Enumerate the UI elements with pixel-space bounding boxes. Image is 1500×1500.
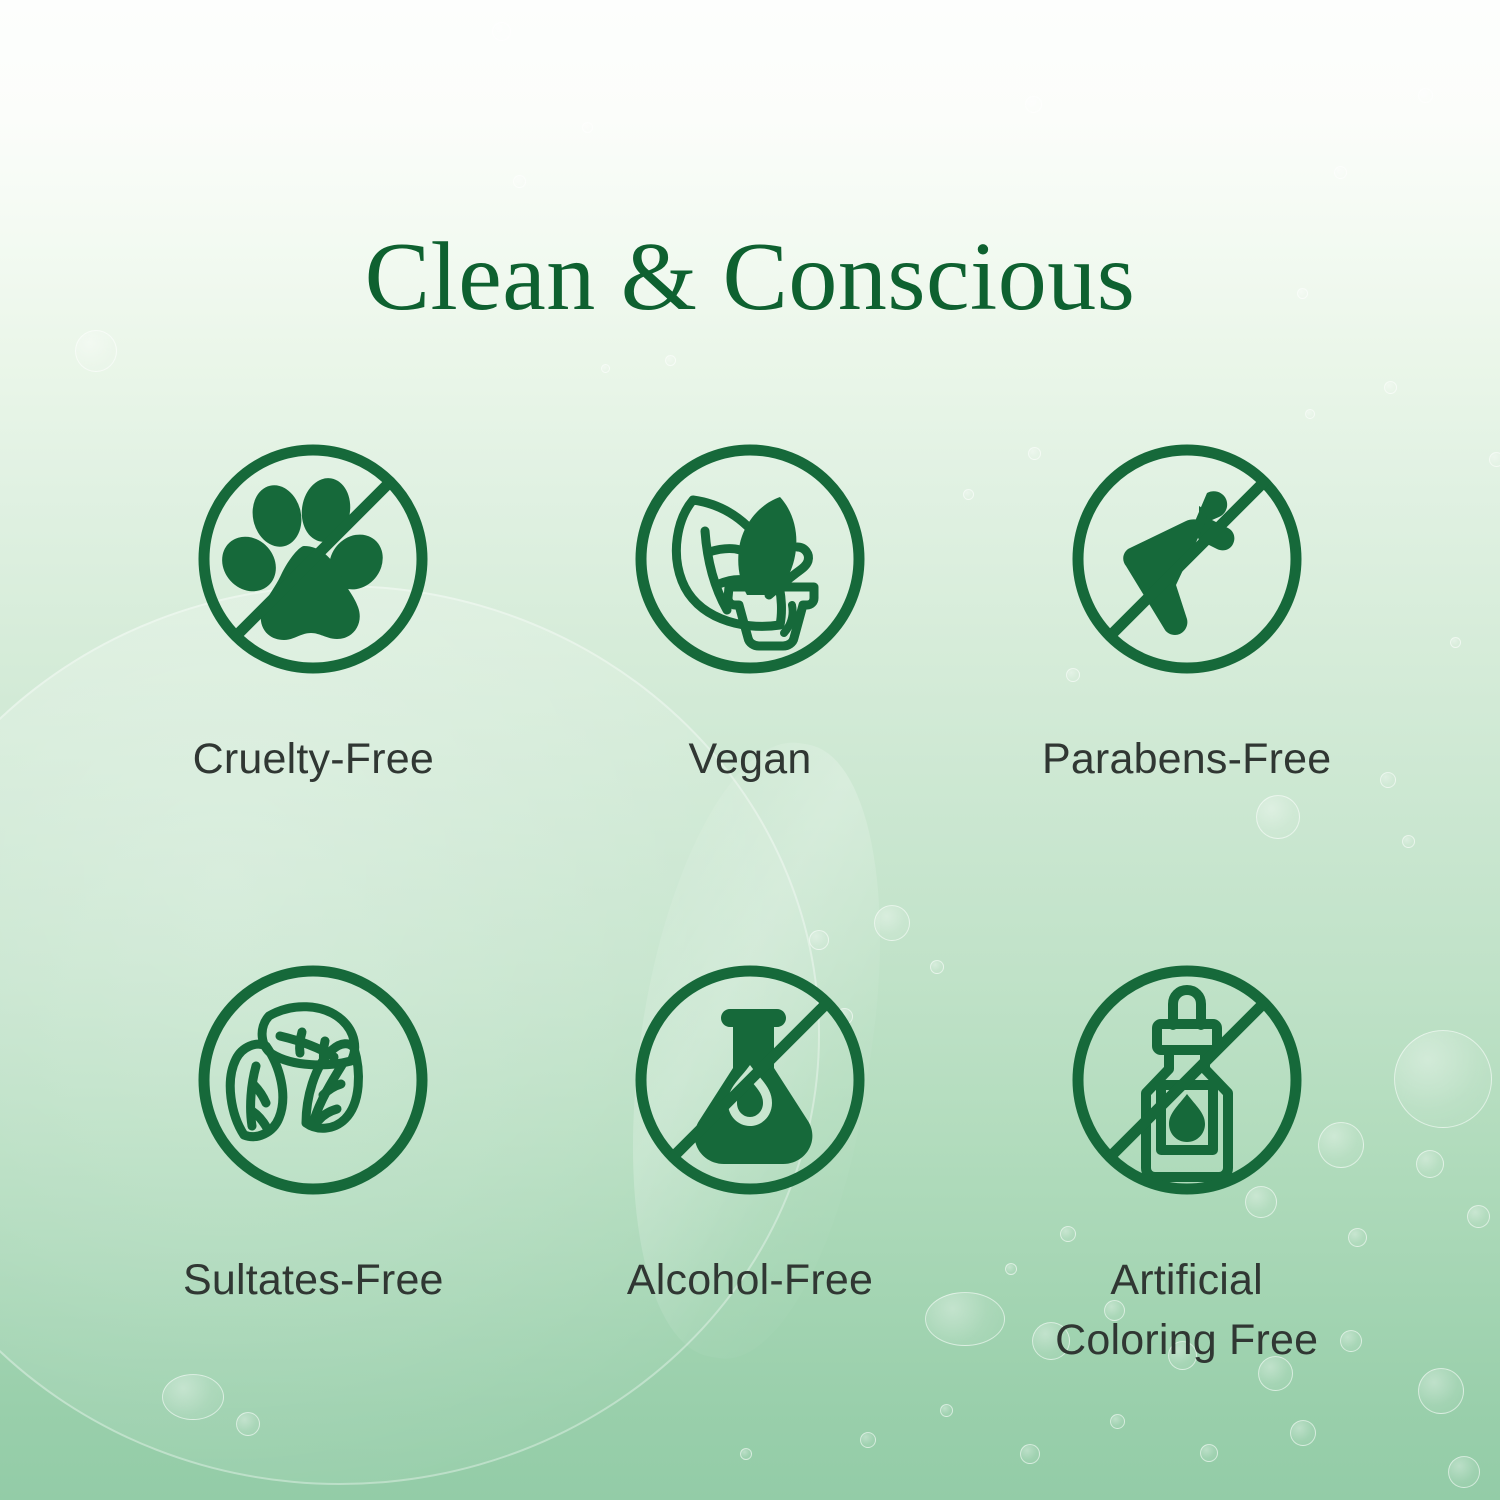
- bubble-decoration: [492, 22, 511, 41]
- bubble-decoration: [1467, 1205, 1490, 1228]
- dropper-bottle-icon: [1068, 961, 1306, 1199]
- badge-artificial-coloring-free[interactable]: Artificial Coloring Free: [968, 961, 1405, 1370]
- leaf-mortar-pestle-icon: [631, 440, 869, 678]
- bubble-decoration: [162, 1374, 224, 1420]
- bubble-decoration: [1418, 1368, 1464, 1414]
- badge-label: Alcohol-Free: [627, 1251, 873, 1310]
- bubble-decoration: [1020, 1444, 1040, 1464]
- badge-label: Artificial Coloring Free: [1055, 1251, 1318, 1370]
- bubble-decoration: [582, 122, 593, 133]
- badge-label: Parabens-Free: [1042, 730, 1331, 789]
- bubble-decoration: [1334, 166, 1347, 179]
- spray-bottle-icon: [1068, 440, 1306, 678]
- three-leaves-recycle-icon: [194, 961, 432, 1199]
- page-title: Clean & Conscious: [0, 226, 1500, 329]
- flask-flame-icon: [631, 961, 869, 1199]
- badge-sultates-free[interactable]: Sultates-Free: [95, 961, 532, 1370]
- bubble-decoration: [740, 1448, 752, 1460]
- bubble-decoration: [665, 355, 676, 366]
- badge-alcohol-free[interactable]: Alcohol-Free: [532, 961, 969, 1370]
- paw-print-icon: [194, 440, 432, 678]
- badge-cruelty-free[interactable]: Cruelty-Free: [95, 440, 532, 789]
- bubble-decoration: [940, 1404, 953, 1417]
- bubble-decoration: [1290, 1420, 1316, 1446]
- bubble-decoration: [1305, 409, 1315, 419]
- bubble-decoration: [601, 364, 610, 373]
- bubble-decoration: [1384, 381, 1397, 394]
- bubble-decoration: [1394, 1030, 1492, 1128]
- badge-label: Vegan: [689, 730, 812, 789]
- bubble-decoration: [513, 175, 526, 188]
- badge-vegan[interactable]: Vegan: [532, 440, 969, 789]
- bubble-decoration: [236, 1412, 260, 1436]
- bubble-decoration: [1200, 1444, 1218, 1462]
- bubble-decoration: [75, 330, 117, 372]
- bubble-decoration: [1416, 1150, 1444, 1178]
- clean-and-conscious-infographic: Clean & Conscious Cruelty-Free: [0, 0, 1500, 1500]
- badge-parabens-free[interactable]: Parabens-Free: [968, 440, 1405, 789]
- badge-grid: Cruelty-Free: [95, 440, 1405, 1370]
- bubble-decoration: [1418, 88, 1433, 103]
- bubble-decoration: [1450, 637, 1461, 648]
- bubble-decoration: [1110, 1414, 1125, 1429]
- bubble-decoration: [860, 1432, 876, 1448]
- bubble-decoration: [1025, 96, 1042, 113]
- badge-label: Cruelty-Free: [193, 730, 434, 789]
- bubble-decoration: [1489, 452, 1500, 467]
- badge-label: Sultates-Free: [183, 1251, 444, 1310]
- bubble-decoration: [1448, 1456, 1480, 1488]
